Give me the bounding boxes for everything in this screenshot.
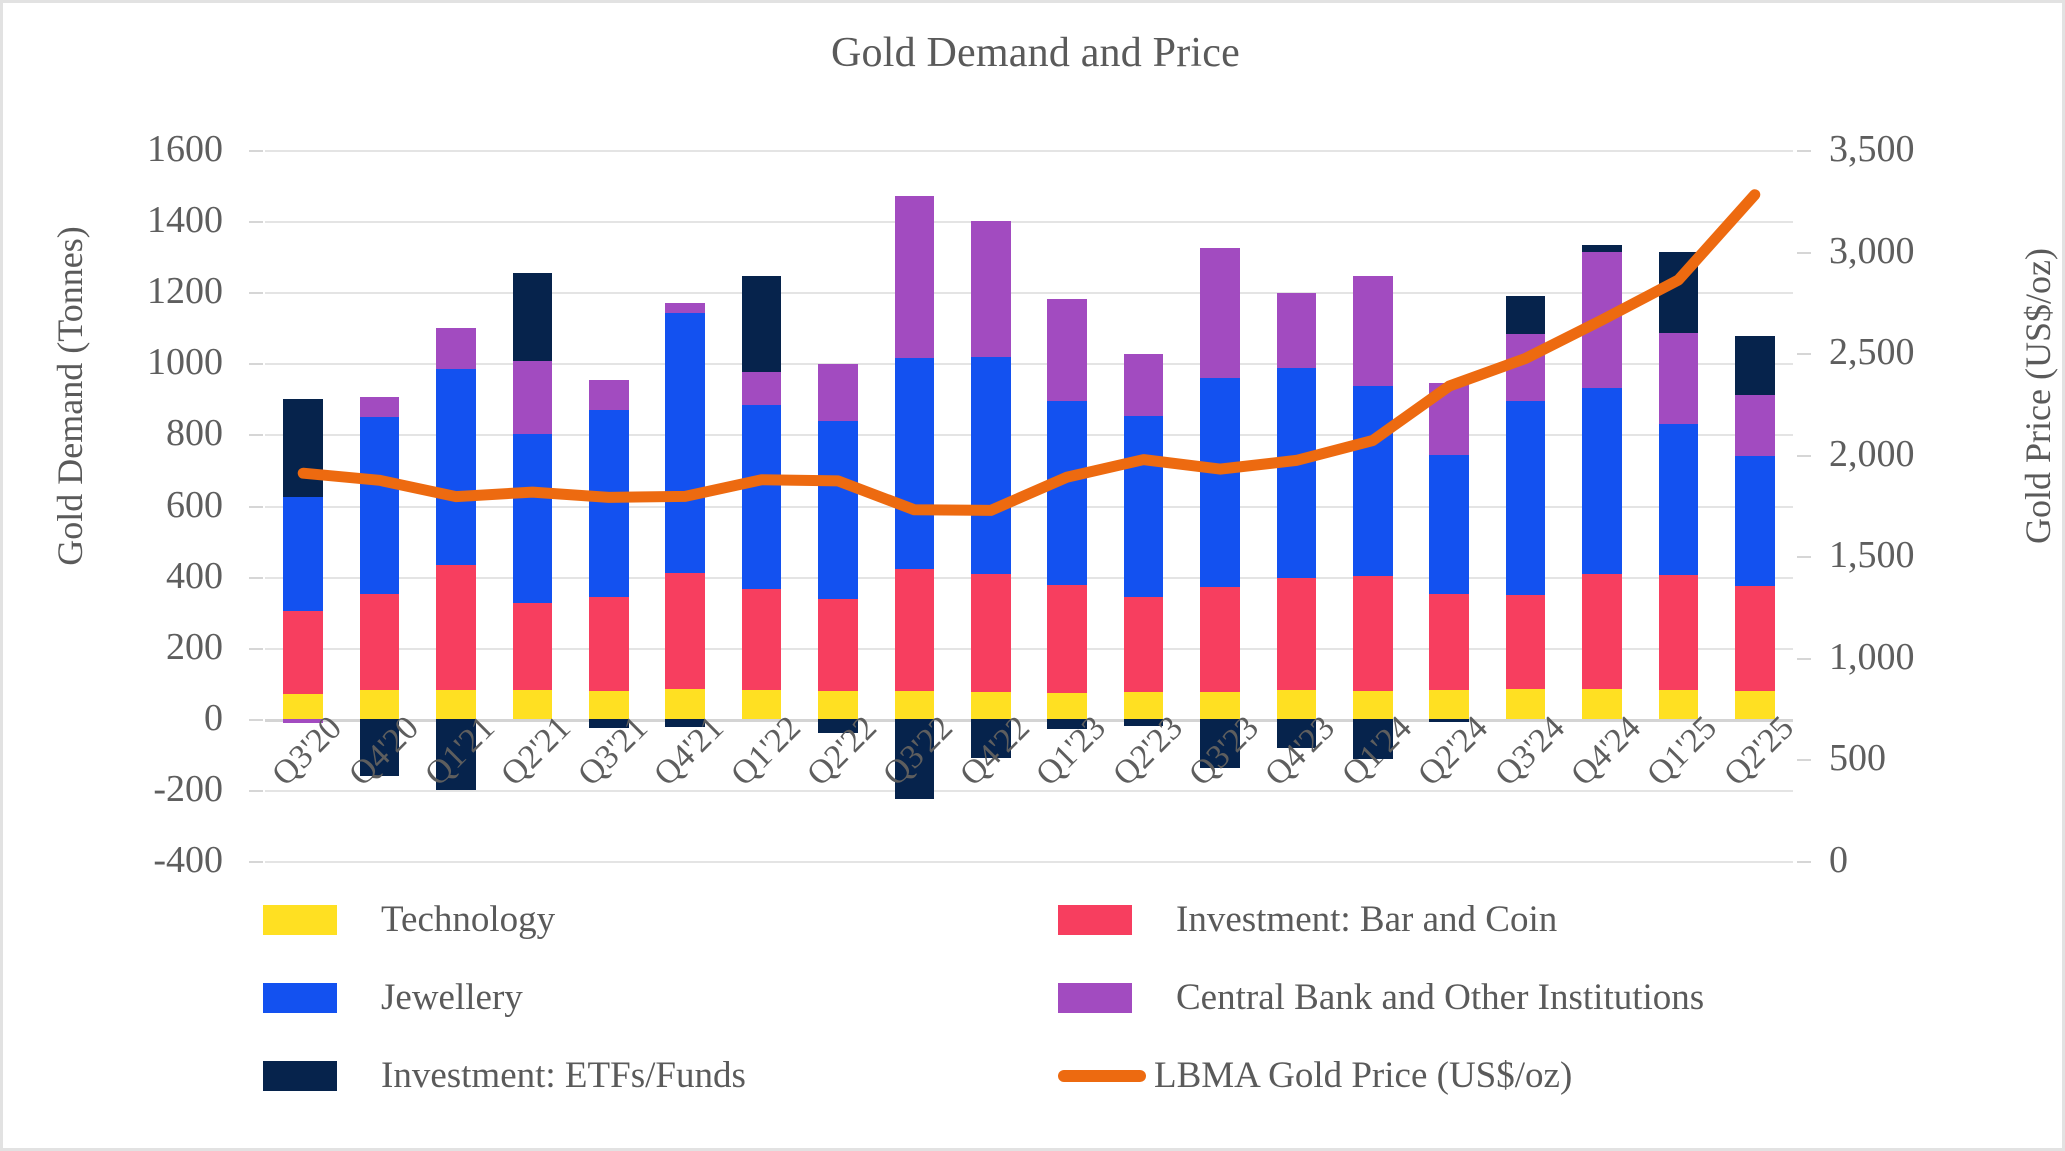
legend-item[interactable]: Investment: Bar and Coin bbox=[1058, 898, 1557, 941]
y-axis-left-tickmark bbox=[249, 434, 263, 436]
legend-item-label: Investment: ETFs/Funds bbox=[381, 1054, 746, 1097]
y-axis-right-tickmark bbox=[1797, 861, 1811, 863]
y-axis-left-tick-label: 1000 bbox=[3, 343, 223, 381]
chart-canvas: Gold Demand and Price Gold Demand (Tonne… bbox=[0, 0, 2065, 1151]
y-axis-right-tick-label: 1,500 bbox=[1829, 536, 2059, 574]
legend-item-label: Central Bank and Other Institutions bbox=[1176, 976, 1704, 1019]
legend-color-swatch bbox=[1058, 983, 1132, 1013]
y-axis-left-tick-label: 1600 bbox=[3, 130, 223, 168]
legend-item[interactable]: Technology bbox=[263, 898, 555, 941]
price-line-series bbox=[265, 150, 1793, 861]
y-axis-left-tick-label: 1200 bbox=[3, 272, 223, 310]
plot-area bbox=[265, 150, 1793, 861]
chart-legend: TechnologyInvestment: Bar and CoinJewell… bbox=[263, 898, 1823, 1113]
gridline bbox=[265, 861, 1793, 863]
y-axis-left-tick-label: 800 bbox=[3, 414, 223, 452]
legend-color-swatch bbox=[263, 1061, 337, 1091]
y-axis-right-tickmark bbox=[1797, 252, 1811, 254]
y-axis-left-tickmark bbox=[249, 363, 263, 365]
legend-item-label: Technology bbox=[381, 898, 555, 941]
y-axis-left-tickmark bbox=[249, 292, 263, 294]
y-axis-right-tick-label: 0 bbox=[1829, 841, 2059, 879]
y-axis-right-tickmark bbox=[1797, 759, 1811, 761]
y-axis-right-tick-label: 2,000 bbox=[1829, 435, 2059, 473]
page-title: Gold Demand and Price bbox=[3, 29, 2065, 77]
y-axis-left-tickmark bbox=[249, 861, 263, 863]
y-axis-right-tick-label: 1,000 bbox=[1829, 638, 2059, 676]
y-axis-right-tick-label: 3,500 bbox=[1829, 130, 2059, 168]
y-axis-left-tick-label: 400 bbox=[3, 557, 223, 595]
legend-item[interactable]: Investment: ETFs/Funds bbox=[263, 1054, 746, 1097]
y-axis-left-tickmark bbox=[249, 221, 263, 223]
legend-item[interactable]: Central Bank and Other Institutions bbox=[1058, 976, 1704, 1019]
legend-item-label: LBMA Gold Price (US$/oz) bbox=[1154, 1054, 1572, 1097]
price-line-path bbox=[303, 195, 1755, 511]
y-axis-left-tickmark bbox=[249, 790, 263, 792]
legend-item-label: Jewellery bbox=[381, 976, 523, 1019]
y-axis-left-tickmark bbox=[249, 648, 263, 650]
y-axis-left-tick-label: -400 bbox=[3, 841, 223, 879]
y-axis-right-tickmark bbox=[1797, 150, 1811, 152]
y-axis-left-tickmark bbox=[249, 719, 263, 721]
y-axis-right-tick-label: 3,000 bbox=[1829, 232, 2059, 270]
legend-item[interactable]: LBMA Gold Price (US$/oz) bbox=[1058, 1054, 1572, 1097]
y-axis-left-tick-label: 1400 bbox=[3, 201, 223, 239]
y-axis-left-tick-label: 600 bbox=[3, 486, 223, 524]
legend-item[interactable]: Jewellery bbox=[263, 976, 523, 1019]
y-axis-left-tickmark bbox=[249, 150, 263, 152]
y-axis-left-tick-label: 200 bbox=[3, 628, 223, 666]
y-axis-left-tick-label: -200 bbox=[3, 770, 223, 808]
legend-color-swatch bbox=[1058, 905, 1132, 935]
y-axis-right-tickmark bbox=[1797, 556, 1811, 558]
y-axis-left-tickmark bbox=[249, 577, 263, 579]
y-axis-right-tickmark bbox=[1797, 353, 1811, 355]
legend-color-swatch bbox=[263, 983, 337, 1013]
legend-line-swatch bbox=[1058, 1070, 1146, 1082]
y-axis-left-tickmark bbox=[249, 506, 263, 508]
y-axis-right-tick-label: 500 bbox=[1829, 739, 2059, 777]
legend-color-swatch bbox=[263, 905, 337, 935]
y-axis-left-tick-label: 0 bbox=[3, 699, 223, 737]
y-axis-right-tickmark bbox=[1797, 658, 1811, 660]
y-axis-right-tickmark bbox=[1797, 455, 1811, 457]
legend-item-label: Investment: Bar and Coin bbox=[1176, 898, 1557, 941]
y-axis-right-tick-label: 2,500 bbox=[1829, 333, 2059, 371]
